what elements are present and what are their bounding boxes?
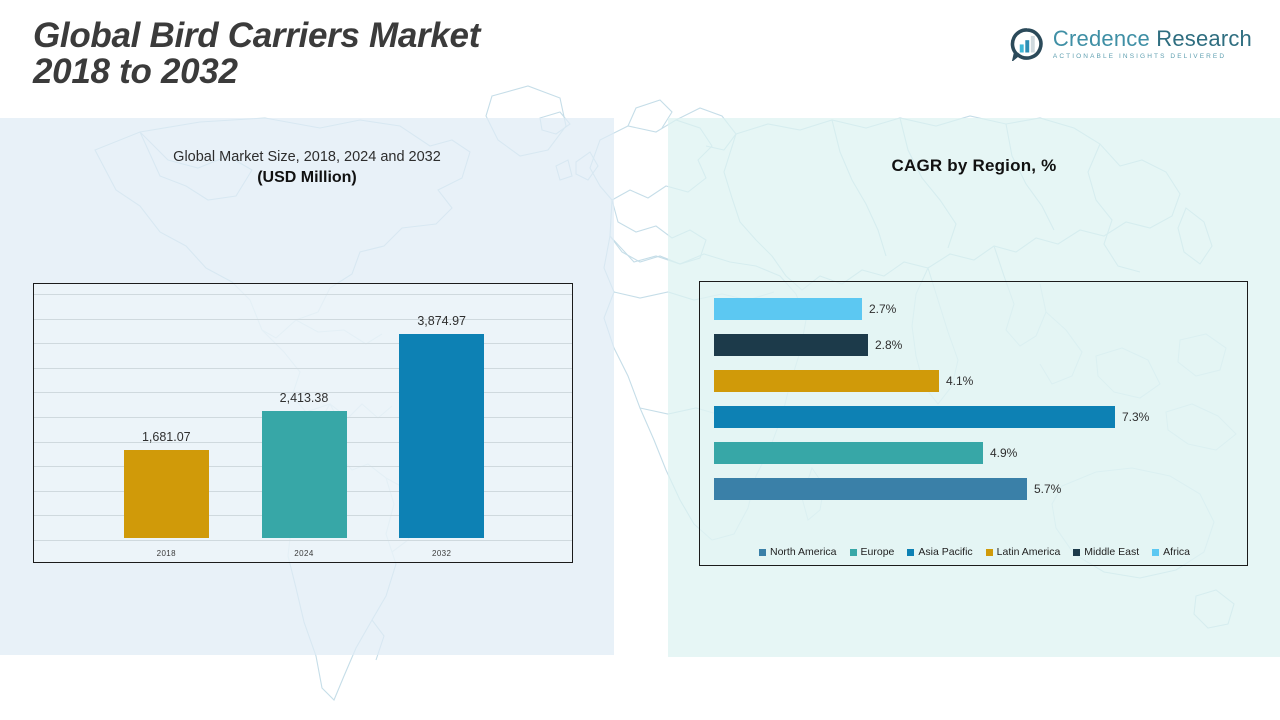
bar-fill: [714, 442, 983, 464]
bar-fill: [714, 406, 1115, 428]
bar-value-label: 4.1%: [946, 374, 973, 388]
cagr-bar-asia-pacific[interactable]: 7.3%: [714, 406, 1149, 428]
legend-swatch: [1073, 549, 1080, 556]
cagr-by-region-chart: CAGR by Region, % 2.7%2.8%4.1%7.3%4.9%5.…: [668, 118, 1280, 657]
bar-category-label: 2032: [362, 549, 522, 558]
cagr-bar-europe[interactable]: 4.9%: [714, 442, 1017, 464]
bar-2018[interactable]: 1,681.072018: [124, 450, 209, 538]
legend-label: Asia Pacific: [918, 546, 972, 558]
bar-value-label: 7.3%: [1122, 410, 1149, 424]
legend-label: Latin America: [997, 546, 1061, 558]
bar-fill: [714, 298, 862, 320]
logo-name-part1: Credence: [1053, 26, 1150, 51]
legend-item-middle-east[interactable]: Middle East: [1073, 546, 1139, 558]
bar-chart-bubble-icon: [1010, 27, 1044, 61]
bar-value-label: 2,413.38: [224, 391, 384, 405]
brand-logo: Credence Research Actionable Insights De…: [1010, 27, 1252, 61]
logo-tagline: Actionable Insights Delivered: [1053, 54, 1252, 61]
bar-2032[interactable]: 3,874.972032: [399, 334, 484, 538]
bar-value-label: 2.7%: [869, 302, 896, 316]
right-chart-legend: North AmericaEuropeAsia PacificLatin Ame…: [700, 546, 1249, 558]
bar-fill: [124, 450, 209, 538]
legend-label: Europe: [861, 546, 895, 558]
legend-swatch: [759, 549, 766, 556]
bar-fill: [262, 411, 347, 538]
cagr-bar-middle-east[interactable]: 2.8%: [714, 334, 902, 356]
bar-fill: [714, 370, 939, 392]
legend-swatch: [986, 549, 993, 556]
bar-fill: [714, 334, 868, 356]
left-chart-subtitle: (USD Million): [0, 169, 614, 187]
bar-category-label: 2018: [86, 549, 246, 558]
legend-swatch: [1152, 549, 1159, 556]
bar-fill: [714, 478, 1027, 500]
legend-label: Middle East: [1084, 546, 1139, 558]
cagr-bar-africa[interactable]: 2.7%: [714, 298, 896, 320]
page-title: Global Bird Carriers Market 2018 to 2032: [33, 18, 480, 90]
left-chart-bars: 1,681.0720182,413.3820243,874.972032: [34, 284, 572, 562]
bar-value-label: 3,874.97: [362, 314, 522, 328]
logo-name-part2: Research: [1150, 26, 1252, 51]
right-chart-title: CAGR by Region, %: [668, 156, 1280, 176]
bar-value-label: 4.9%: [990, 446, 1017, 460]
bar-value-label: 2.8%: [875, 338, 902, 352]
legend-label: Africa: [1163, 546, 1190, 558]
logo-name: Credence Research: [1053, 28, 1252, 50]
legend-item-latin-america[interactable]: Latin America: [986, 546, 1061, 558]
bar-fill: [399, 334, 484, 538]
legend-item-north-america[interactable]: North America: [759, 546, 837, 558]
cagr-bar-north-america[interactable]: 5.7%: [714, 478, 1061, 500]
global-market-size-chart: Global Market Size, 2018, 2024 and 2032 …: [0, 118, 614, 655]
left-chart-plot-area: 1,681.0720182,413.3820243,874.972032: [33, 283, 573, 563]
cagr-bar-latin-america[interactable]: 4.1%: [714, 370, 973, 392]
logo-text: Credence Research Actionable Insights De…: [1053, 28, 1252, 61]
right-chart-plot-area: 2.7%2.8%4.1%7.3%4.9%5.7% North AmericaEu…: [699, 281, 1248, 566]
legend-label: North America: [770, 546, 837, 558]
header: Global Bird Carriers Market 2018 to 2032…: [0, 0, 1280, 118]
legend-swatch: [850, 549, 857, 556]
legend-swatch: [907, 549, 914, 556]
bar-2024[interactable]: 2,413.382024: [262, 411, 347, 538]
legend-item-africa[interactable]: Africa: [1152, 546, 1190, 558]
bar-category-label: 2024: [224, 549, 384, 558]
legend-item-europe[interactable]: Europe: [850, 546, 895, 558]
bar-value-label: 5.7%: [1034, 482, 1061, 496]
legend-item-asia-pacific[interactable]: Asia Pacific: [907, 546, 972, 558]
bar-value-label: 1,681.07: [86, 430, 246, 444]
left-chart-title: Global Market Size, 2018, 2024 and 2032: [0, 149, 614, 165]
